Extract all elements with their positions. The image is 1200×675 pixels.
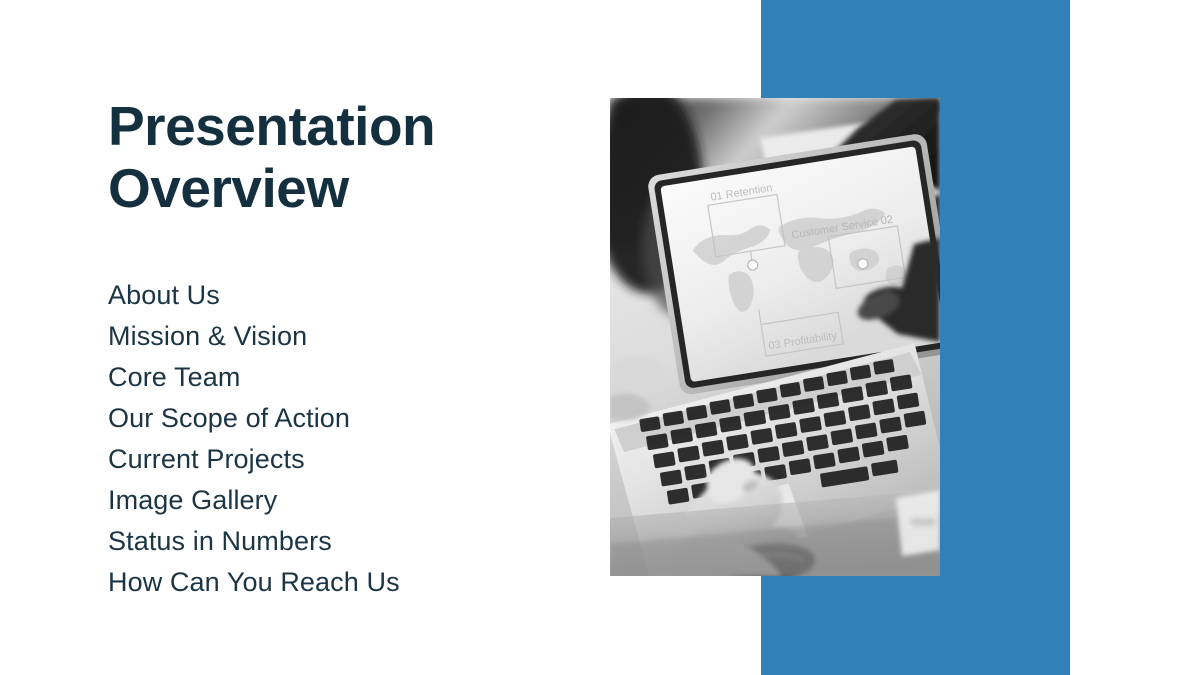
list-item[interactable]: Our Scope of Action	[108, 398, 578, 439]
list-item[interactable]: Image Gallery	[108, 480, 578, 521]
laptop-photo: 01 Retention Customer Service 02 03 Prof…	[610, 98, 940, 576]
list-item[interactable]: Current Projects	[108, 439, 578, 480]
list-item[interactable]: Core Team	[108, 357, 578, 398]
list-item[interactable]: Status in Numbers	[108, 521, 578, 562]
list-item[interactable]: Mission & Vision	[108, 316, 578, 357]
text-column: Presentation Overview About Us Mission &…	[108, 96, 578, 603]
page-title: Presentation Overview	[108, 96, 578, 219]
list-item[interactable]: How Can You Reach Us	[108, 562, 578, 603]
agenda-list: About Us Mission & Vision Core Team Our …	[108, 275, 578, 603]
presentation-slide: Presentation Overview About Us Mission &…	[0, 0, 1200, 675]
list-item[interactable]: About Us	[108, 275, 578, 316]
